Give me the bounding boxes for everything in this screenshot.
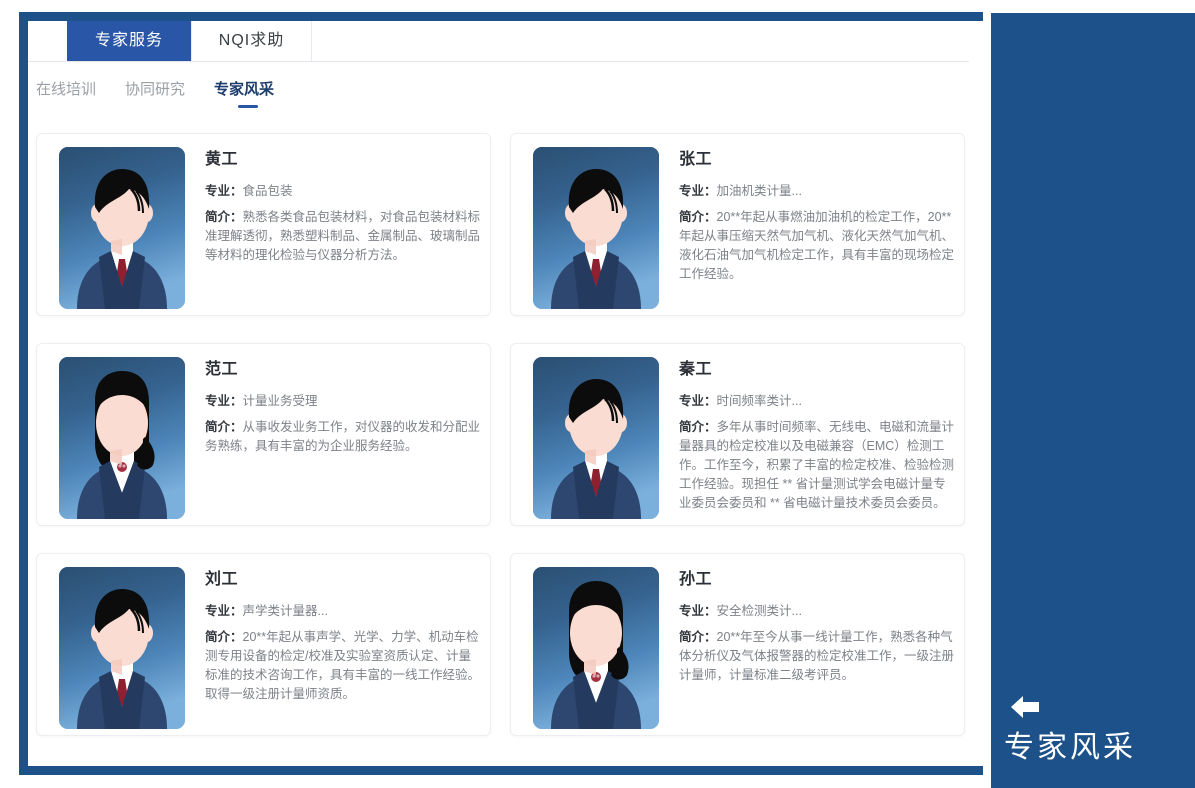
expert-major-label: 专业：	[205, 604, 243, 618]
expert-info: 孙工 专业：安全检测类计... 简介：20**年至今从事一线计量工作，熟悉各种气…	[679, 568, 955, 692]
page-root: 专家服务 NQI求助 在线培训 协同研究 专家风采	[0, 0, 1195, 788]
expert-info: 秦工 专业：时间频率类计... 简介：多年从事时间频率、无线电、电磁和流量计量器…	[679, 358, 955, 520]
expert-bio-value: 20**年至今从事一线计量工作，熟悉各种气体分析仪及气体报警器的检定校准工作，一…	[679, 630, 954, 682]
expert-bio-value: 20**年起从事燃油加油机的检定工作，20**年起从事压缩天然气加气机、液化天然…	[679, 210, 954, 281]
expert-card[interactable]: 秦工 专业：时间频率类计... 简介：多年从事时间频率、无线电、电磁和流量计量器…	[510, 343, 965, 526]
frame-border-bottom	[19, 766, 983, 775]
expert-bio-field: 简介：熟悉各类食品包装材料，对食品包装材料标准理解透彻，熟悉塑料制品、金属制品、…	[205, 208, 481, 265]
expert-bio-label: 简介：	[205, 630, 243, 644]
frame-border-left	[19, 12, 28, 775]
expert-name: 范工	[205, 358, 481, 382]
expert-bio-value: 20**年起从事声学、光学、力学、机动车检测专用设备的检定/校准及实验室资质认定…	[205, 630, 480, 701]
expert-avatar-male	[59, 567, 185, 729]
expert-major-field: 专业：时间频率类计...	[679, 392, 955, 411]
sub-tab-bar: 在线培训 协同研究 专家风采	[36, 79, 966, 113]
expert-card[interactable]: 刘工 专业：声学类计量器... 简介：20**年起从事声学、光学、力学、机动车检…	[36, 553, 491, 736]
sub-tab-online-training[interactable]: 在线培训	[36, 79, 96, 101]
expert-major-field: 专业：计量业务受理	[205, 392, 481, 411]
expert-bio-field: 简介：20**年起从事声学、光学、力学、机动车检测专用设备的检定/校准及实验室资…	[205, 628, 481, 704]
expert-info: 范工 专业：计量业务受理 简介：从事收发业务工作，对仪器的收发和分配业务熟练，具…	[205, 358, 481, 463]
sub-tab-collaborative-research[interactable]: 协同研究	[125, 79, 185, 101]
expert-bio-field: 简介：20**年至今从事一线计量工作，熟悉各种气体分析仪及气体报警器的检定校准工…	[679, 628, 955, 685]
expert-avatar-male	[533, 357, 659, 519]
arrow-left-icon[interactable]	[1009, 694, 1043, 720]
expert-major-field: 专业：食品包装	[205, 182, 481, 201]
expert-name: 黄工	[205, 148, 481, 172]
expert-card[interactable]: 范工 专业：计量业务受理 简介：从事收发业务工作，对仪器的收发和分配业务熟练，具…	[36, 343, 491, 526]
expert-bio-label: 简介：	[679, 420, 717, 434]
expert-major-value: 计量业务受理	[243, 394, 318, 408]
side-panel: 专家风采	[991, 13, 1195, 788]
expert-avatar-female	[533, 567, 659, 729]
expert-name: 张工	[679, 148, 955, 172]
expert-major-label: 专业：	[205, 394, 243, 408]
expert-bio-value: 熟悉各类食品包装材料，对食品包装材料标准理解透彻，熟悉塑料制品、金属制品、玻璃制…	[205, 210, 480, 262]
expert-bio-field: 简介：20**年起从事燃油加油机的检定工作，20**年起从事压缩天然气加气机、液…	[679, 208, 955, 284]
expert-bio-field: 简介：从事收发业务工作，对仪器的收发和分配业务熟练，具有丰富的为企业服务经验。	[205, 418, 481, 456]
side-panel-title: 专家风采	[1004, 728, 1136, 768]
expert-card[interactable]: 张工 专业：加油机类计量... 简介：20**年起从事燃油加油机的检定工作，20…	[510, 133, 965, 316]
tab-bar: 专家服务 NQI求助	[28, 21, 969, 62]
expert-bio-value: 从事收发业务工作，对仪器的收发和分配业务熟练，具有丰富的为企业服务经验。	[205, 420, 480, 453]
expert-avatar-male	[533, 147, 659, 309]
expert-major-field: 专业：声学类计量器...	[205, 602, 481, 621]
expert-major-field: 专业：加油机类计量...	[679, 182, 955, 201]
expert-info: 黄工 专业：食品包装 简介：熟悉各类食品包装材料，对食品包装材料标准理解透彻，熟…	[205, 148, 481, 272]
expert-major-value: 食品包装	[243, 184, 293, 198]
expert-major-label: 专业：	[205, 184, 243, 198]
side-panel-caption-block: 专家风采	[991, 650, 1195, 788]
expert-card[interactable]: 黄工 专业：食品包装 简介：熟悉各类食品包装材料，对食品包装材料标准理解透彻，熟…	[36, 133, 491, 316]
expert-major-label: 专业：	[679, 184, 717, 198]
expert-major-field: 专业：安全检测类计...	[679, 602, 955, 621]
expert-major-label: 专业：	[679, 394, 717, 408]
expert-major-label: 专业：	[679, 604, 717, 618]
expert-name: 秦工	[679, 358, 955, 382]
expert-name: 刘工	[205, 568, 481, 592]
expert-info: 刘工 专业：声学类计量器... 简介：20**年起从事声学、光学、力学、机动车检…	[205, 568, 481, 711]
frame-border-top	[19, 12, 983, 21]
expert-major-value: 声学类计量器...	[243, 604, 328, 618]
expert-card[interactable]: 孙工 专业：安全检测类计... 简介：20**年至今从事一线计量工作，熟悉各种气…	[510, 553, 965, 736]
expert-name: 孙工	[679, 568, 955, 592]
expert-major-value: 时间频率类计...	[717, 394, 802, 408]
expert-bio-label: 简介：	[679, 630, 717, 644]
expert-card-grid: 黄工 专业：食品包装 简介：熟悉各类食品包装材料，对食品包装材料标准理解透彻，熟…	[36, 133, 966, 763]
expert-bio-label: 简介：	[205, 210, 243, 224]
sub-tab-active-underline	[238, 105, 258, 108]
expert-bio-value: 多年从事时间频率、无线电、电磁和流量计量器具的检定校准以及电磁兼容（EMC）检测…	[679, 420, 954, 510]
expert-info: 张工 专业：加油机类计量... 简介：20**年起从事燃油加油机的检定工作，20…	[679, 148, 955, 291]
expert-major-value: 安全检测类计...	[717, 604, 802, 618]
tab-expert-service[interactable]: 专家服务	[67, 21, 191, 61]
expert-avatar-male	[59, 147, 185, 309]
expert-major-value: 加油机类计量...	[717, 184, 802, 198]
main-content: 专家服务 NQI求助 在线培训 协同研究 专家风采	[28, 21, 983, 766]
expert-bio-label: 简介：	[679, 210, 717, 224]
expert-bio-label: 简介：	[205, 420, 243, 434]
tab-nqi-help[interactable]: NQI求助	[191, 21, 312, 61]
sub-tab-expert-showcase[interactable]: 专家风采	[214, 79, 274, 101]
expert-bio-field: 简介：多年从事时间频率、无线电、电磁和流量计量器具的检定校准以及电磁兼容（EMC…	[679, 418, 955, 513]
expert-avatar-female	[59, 357, 185, 519]
